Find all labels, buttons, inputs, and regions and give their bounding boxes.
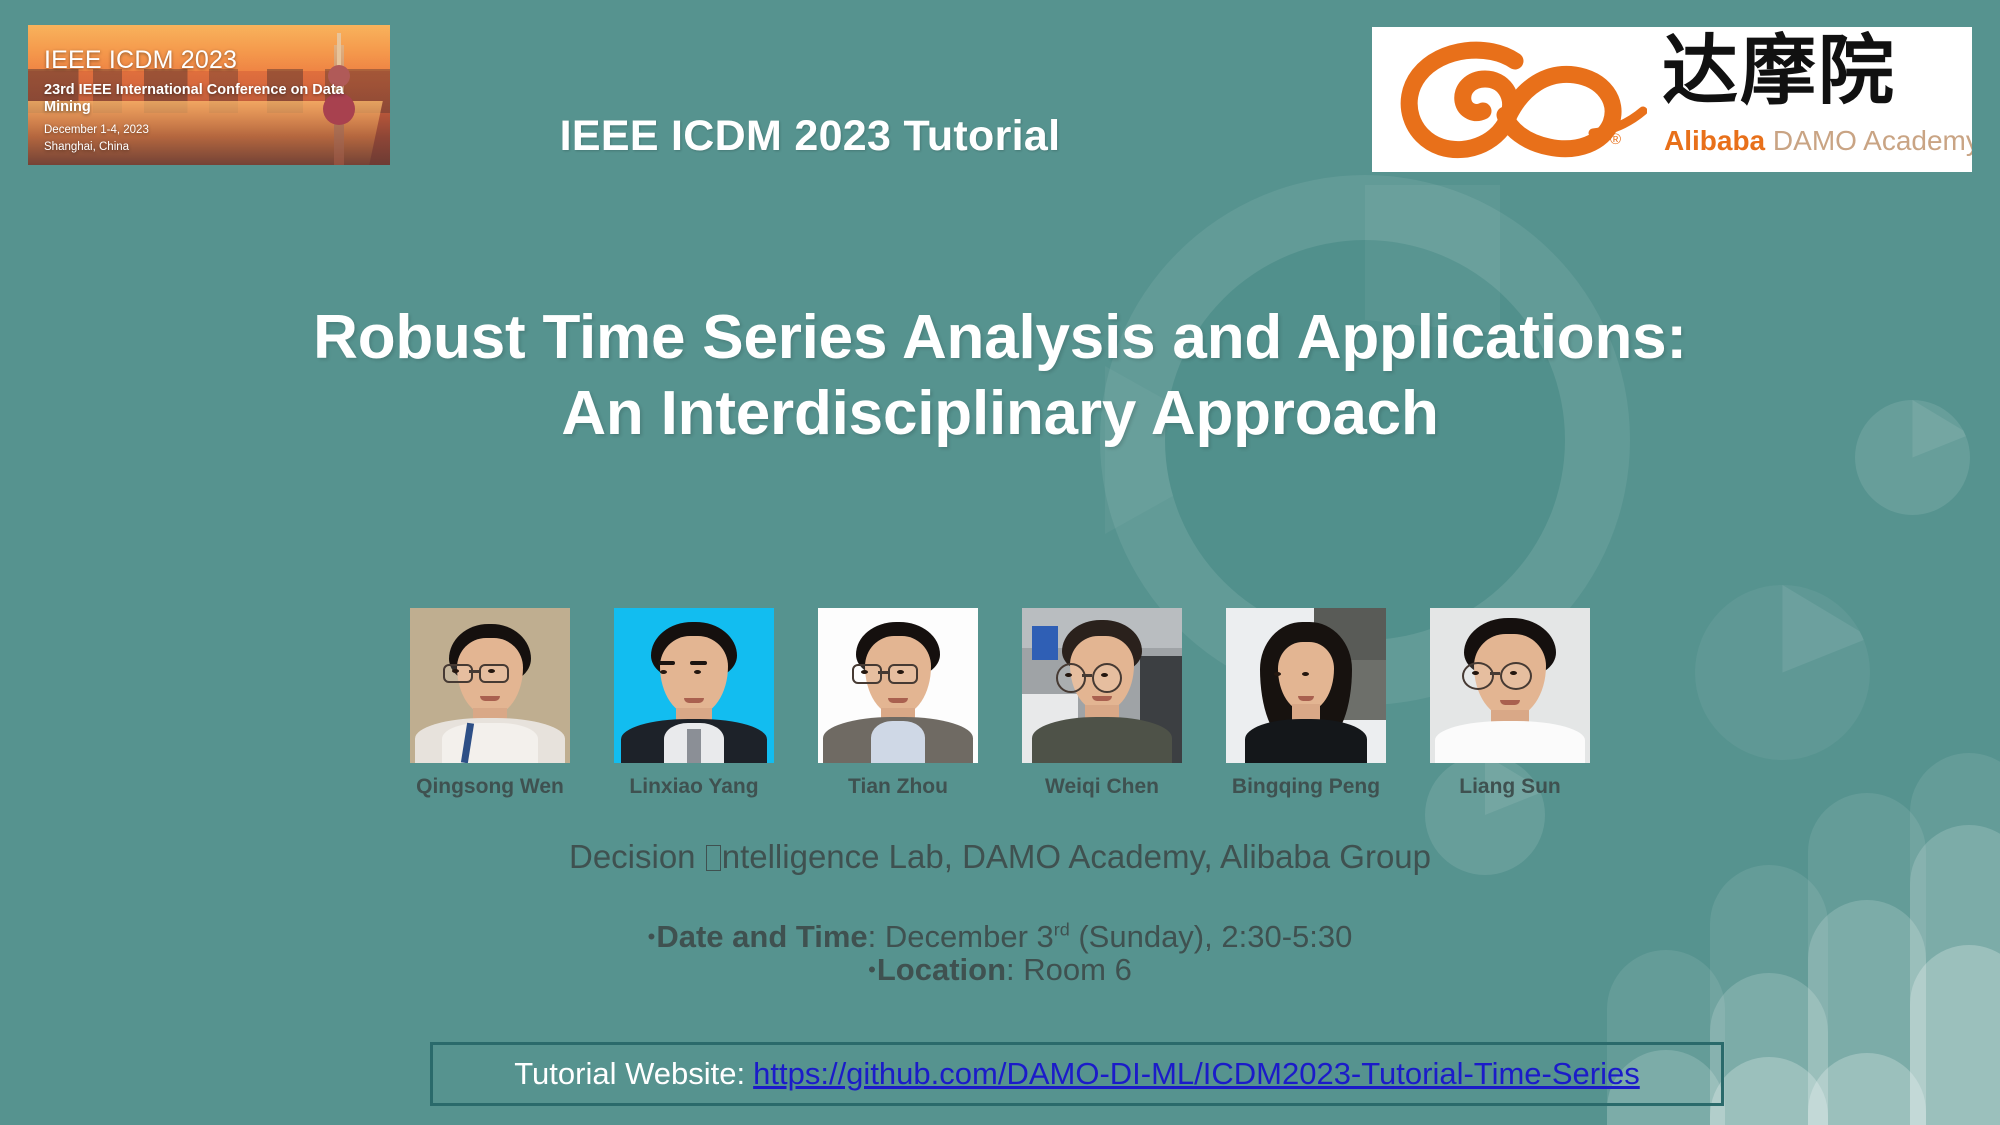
banner-title: IEEE ICDM 2023 xyxy=(44,47,390,75)
avatar xyxy=(1430,608,1590,763)
date-ordinal-suffix: rd xyxy=(1054,920,1070,940)
date-and-time-value-post: (Sunday), 2:30-5:30 xyxy=(1070,919,1353,954)
registered-mark: ® xyxy=(1610,131,1621,148)
author-name: Liang Sun xyxy=(1459,775,1561,799)
location-line: •Location: Room 6 xyxy=(0,953,2000,986)
author-name: Tian Zhou xyxy=(848,775,948,799)
author-name: Qingsong Wen xyxy=(416,775,564,799)
bullet-marker: • xyxy=(648,924,656,949)
slide-kicker-text: IEEE ICDM 2023 Tutorial xyxy=(560,112,1061,161)
bar-shape-2 xyxy=(1710,865,1828,1125)
avatar xyxy=(1226,608,1386,763)
tutorial-website-link[interactable]: https://github.com/DAMO-DI-ML/ICDM2023-T… xyxy=(753,1056,1640,1092)
author-item: Linxiao Yang xyxy=(614,608,774,799)
avatar xyxy=(410,608,570,763)
damo-chinese-characters: 达摩院 xyxy=(1662,33,1896,109)
avatar xyxy=(1022,608,1182,763)
avatar xyxy=(818,608,978,763)
slide-title-line-2: An Interdisciplinary Approach xyxy=(0,376,2000,452)
tutorial-website-label: Tutorial Website: xyxy=(514,1056,745,1092)
bullet-marker: • xyxy=(868,957,876,982)
damo-brand-light: DAMO Academy xyxy=(1765,125,1972,156)
avatar xyxy=(614,608,774,763)
author-name: Bingqing Peng xyxy=(1232,775,1380,799)
damo-brand-text: Alibaba DAMO Academy xyxy=(1664,127,1972,155)
author-item: Weiqi Chen xyxy=(1022,608,1182,799)
damo-brand-bold: Alibaba xyxy=(1664,125,1765,156)
date-and-time-label: Date and Time xyxy=(656,919,867,954)
author-list: Qingsong Wen Linxiao Yang xyxy=(0,608,2000,799)
date-and-time-value-pre: : December 3 xyxy=(868,919,1054,954)
author-item: Liang Sun xyxy=(1430,608,1590,799)
affiliation-line: Decision ntelligence Lab, DAMO Academy, … xyxy=(0,838,2000,876)
author-name: Weiqi Chen xyxy=(1045,775,1159,799)
slide-title: Robust Time Series Analysis and Applicat… xyxy=(0,300,2000,451)
author-item: Tian Zhou xyxy=(818,608,978,799)
author-item: Bingqing Peng xyxy=(1226,608,1386,799)
slide-title-line-1: Robust Time Series Analysis and Applicat… xyxy=(0,300,2000,376)
damo-academy-logo: 达摩院 ® Alibaba DAMO Academy xyxy=(1372,27,1972,172)
affiliation-suffix: ntelligence Lab, DAMO Academy, Alibaba G… xyxy=(722,838,1431,875)
tutorial-website-box: Tutorial Website: https://github.com/DAM… xyxy=(430,1042,1724,1106)
bar-shape-2-lighter xyxy=(1710,1057,1828,1125)
affiliation-prefix: Decision xyxy=(569,838,705,875)
presentation-slide: IEEE ICDM 2023 23rd IEEE International C… xyxy=(0,0,2000,1125)
location-value: : Room 6 xyxy=(1006,952,1132,987)
location-label: Location xyxy=(877,952,1006,987)
bar-shape-2-light xyxy=(1710,973,1828,1125)
bar-shape-3-lighter xyxy=(1808,1053,1926,1125)
date-and-time-line: •Date and Time: December 3rd (Sunday), 2… xyxy=(0,920,2000,953)
missing-glyph-box-icon xyxy=(706,845,721,871)
author-name: Linxiao Yang xyxy=(629,775,758,799)
author-item: Qingsong Wen xyxy=(410,608,570,799)
event-details: •Date and Time: December 3rd (Sunday), 2… xyxy=(0,920,2000,986)
